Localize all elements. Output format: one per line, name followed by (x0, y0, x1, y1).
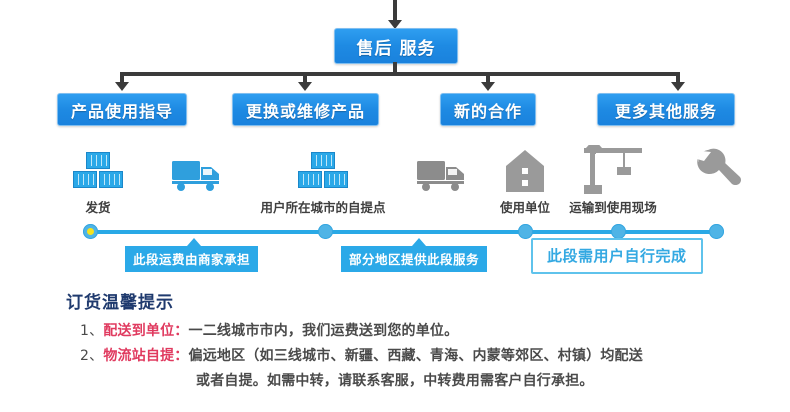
arrow-into-node-2 (298, 82, 312, 91)
note-item-2: 2、物流站自提：偏远地区（如三线城市、新疆、西藏、青海、内蒙等郊区、村镇）均配送 (80, 345, 643, 365)
timeline-dot-4[interactable] (611, 224, 626, 239)
note-key: 配送到单位： (103, 323, 188, 339)
note-text: 或者自提。如需中转，请联系客服，中转费用需客户自行承担。 (196, 373, 594, 389)
crates-icon (297, 152, 349, 192)
timeline-dot-start[interactable] (83, 224, 98, 239)
note-item-2-continuation: 或者自提。如需中转，请联系客服，中转费用需客户自行承担。 (196, 370, 594, 390)
segment-caret-2 (412, 238, 426, 246)
truck-icon (415, 158, 473, 192)
segment-caret-1 (187, 238, 201, 246)
house-icon (502, 148, 548, 194)
segment-label-partial-region: 部分地区提供此段服务 (341, 246, 487, 272)
segment-label-merchant-freight: 此段运费由商家承担 (125, 246, 258, 272)
note-item-1: 1、配送到单位：一二线城市市内，我们运费送到您的单位。 (80, 320, 458, 340)
flow-node-new-cooperation[interactable]: 新的合作 (440, 93, 536, 126)
note-key: 物流站自提： (103, 348, 188, 364)
flow-node-replace-repair[interactable]: 更换或维修产品 (232, 93, 379, 126)
arrow-into-node-4 (671, 82, 685, 91)
connector-horizontal-bus (120, 72, 680, 76)
truck-icon (170, 158, 228, 192)
note-text: 偏远地区（如三线城市、新疆、西藏、青海、内蒙等郊区、村镇）均配送 (189, 348, 643, 364)
segment-label-user-self: 此段需用户自行完成 (531, 238, 703, 274)
after-sales-service-infographic: 售后 服务 产品使用指导 更换或维修产品 新的合作 更多其他服务 (0, 0, 790, 412)
journey-label-shipping: 发货 (70, 197, 126, 216)
arrow-into-node-1 (115, 82, 129, 91)
timeline-dot-end[interactable] (709, 224, 724, 239)
timeline-dot-2[interactable] (318, 224, 333, 239)
crates-icon (72, 152, 124, 192)
journey-label-pickup-point: 用户所在城市的自提点 (243, 197, 403, 216)
note-number: 2、 (80, 348, 103, 364)
flow-node-more-services[interactable]: 更多其他服务 (597, 93, 735, 126)
timeline-dot-3[interactable] (518, 224, 533, 239)
wrench-icon (693, 148, 741, 194)
note-number: 1、 (80, 323, 103, 339)
journey-label-use-unit: 使用单位 (493, 197, 557, 216)
flow-node-product-guide[interactable]: 产品使用指导 (57, 93, 187, 126)
arrow-into-node-3 (481, 82, 495, 91)
flow-node-root[interactable]: 售后 服务 (334, 28, 458, 64)
notes-title: 订货温馨提示 (66, 288, 174, 313)
note-text: 一二线城市市内，我们运费送到您的单位。 (189, 323, 459, 339)
crane-icon (578, 145, 646, 195)
journey-label-transport-to-site: 运输到使用现场 (555, 197, 671, 216)
